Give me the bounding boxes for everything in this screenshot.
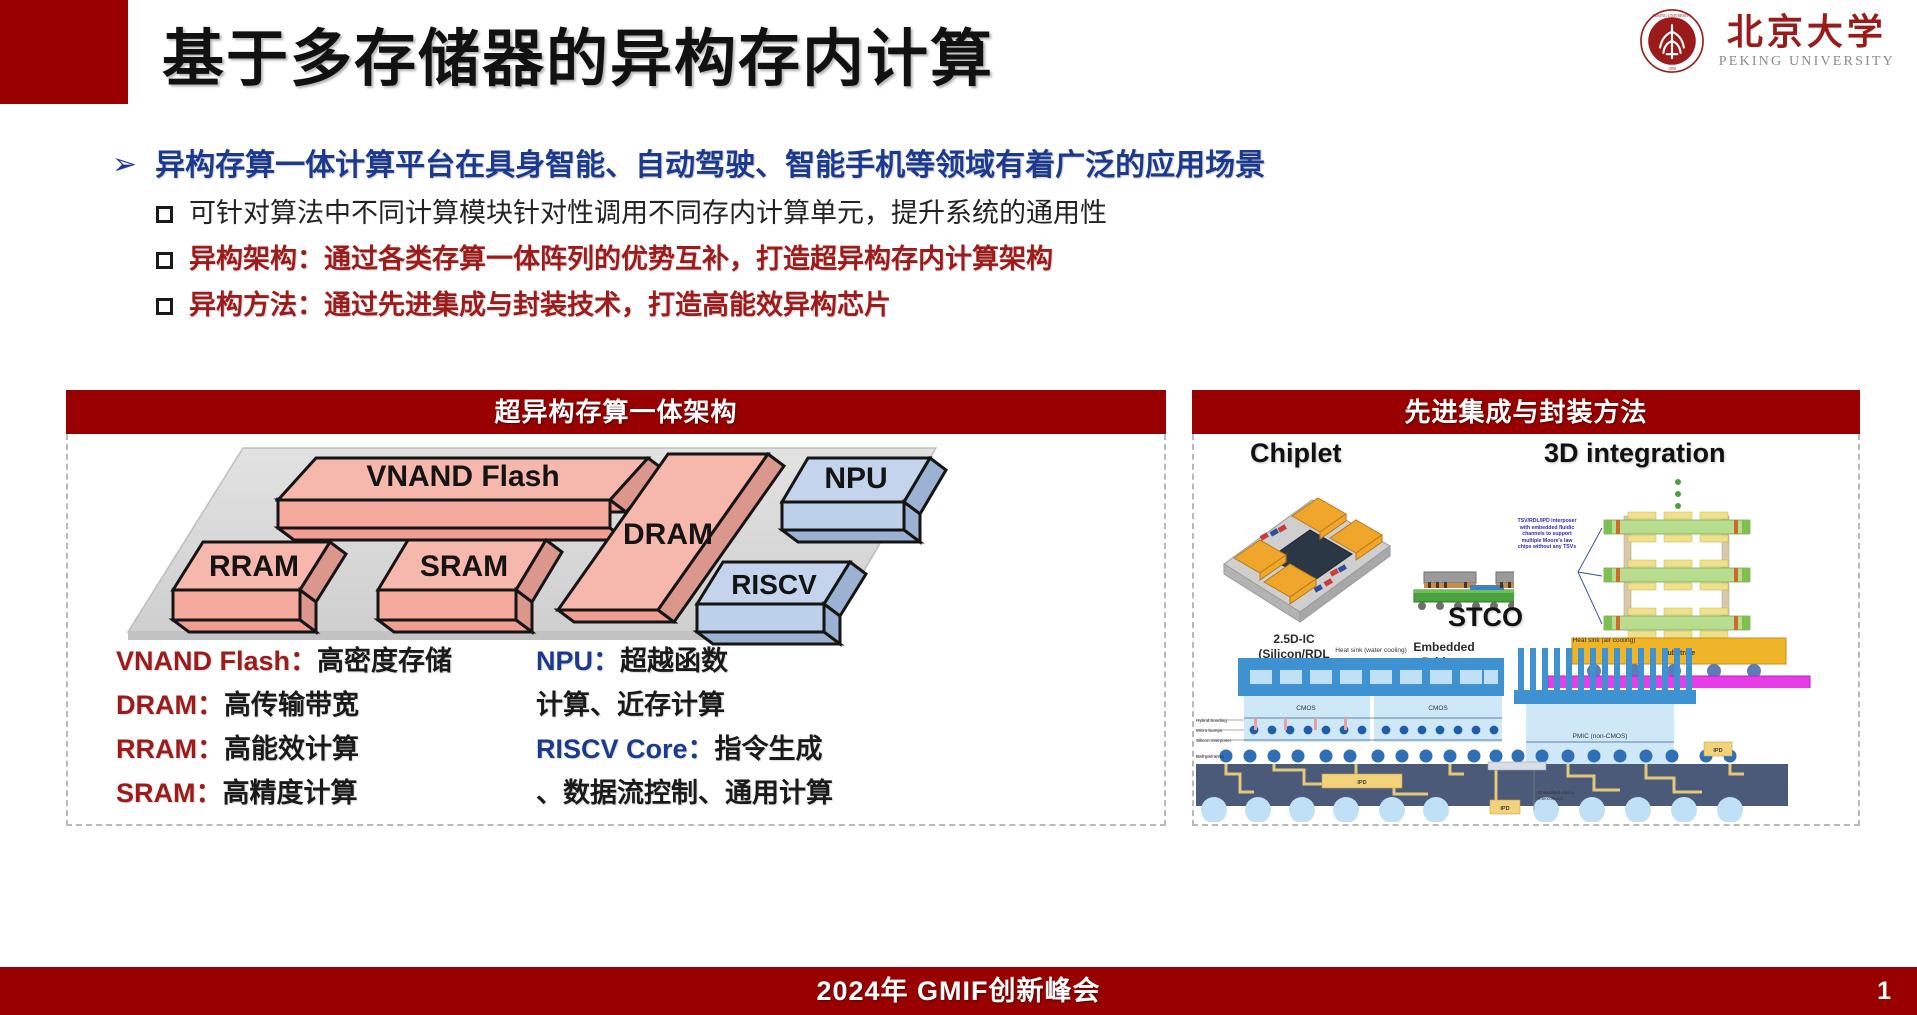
block-riscv: RISCV xyxy=(697,562,866,644)
svg-text:RRAM: RRAM xyxy=(209,550,299,583)
legend-value: 高精度计算 xyxy=(223,778,358,808)
svg-text:Heat sink (water cooling): Heat sink (water cooling) xyxy=(1335,647,1407,654)
bullet-sub-3-text: 异构方法：通过先进集成与封装技术，打造高能效异构芯片 xyxy=(189,289,891,322)
legend-sep: ： xyxy=(197,734,224,764)
bullet-sub-2-text: 异构架构：通过各类存算一体阵列的优势互补，打造超异构存内计算架构 xyxy=(189,243,1053,276)
legend-key: VNAND Flash xyxy=(116,646,290,676)
svg-text:CMOS: CMOS xyxy=(1296,705,1316,712)
legend-row: DRAM：高传输带宽 xyxy=(116,690,536,720)
stco-figure-title: STCO xyxy=(1448,602,1523,633)
legend-row: NPU：超越函数 xyxy=(536,646,996,676)
bullet-main: ➢ 异构存算一体计算平台在具身智能、自动驾驶、智能手机等领域有着广泛的应用场景 xyxy=(112,148,1832,184)
right-panel-title: 先进集成与封装方法 xyxy=(1192,390,1860,434)
right-panel: 先进集成与封装方法 Chiplet xyxy=(1192,390,1860,826)
three-d-integration-figure-title: 3D integration xyxy=(1544,438,1726,469)
bullet-sub-1-text: 可针对算法中不同计算模块针对性调用不同存内计算单元，提升系统的通用性 xyxy=(189,197,1107,230)
stco-side-label-hybrid-bonding: Hybrid bonding xyxy=(1196,718,1227,724)
stco-diagram: Heat sink (water cooling) Heat sink (air… xyxy=(1196,634,1856,822)
legend-row: RRAM：高能效计算 xyxy=(116,734,536,764)
legend-value: 高密度存储 xyxy=(317,646,452,676)
legend-row: VNAND Flash：高密度存储 xyxy=(116,646,536,676)
legend-sep: ： xyxy=(196,778,223,808)
svg-text:CMOS: CMOS xyxy=(1428,705,1448,712)
legend-key: NPU xyxy=(536,646,593,676)
svg-text:Heat sink (air cooling): Heat sink (air cooling) xyxy=(1573,637,1636,644)
footer-bar: 2024年 GMIF创新峰会 1 xyxy=(0,967,1917,1015)
legend-row: 计算、近存计算 xyxy=(536,690,996,720)
stco-side-label-silicon-interposer: Silicon interposer xyxy=(1196,738,1231,744)
square-bullet-icon xyxy=(156,206,173,223)
legend-sep: ： xyxy=(197,690,224,720)
bullet-sub-2: 异构架构：通过各类存算一体阵列的优势互补，打造超异构存内计算架构 xyxy=(156,243,1832,276)
header-accent-block xyxy=(0,0,128,104)
bullet-sub-1: 可针对算法中不同计算模块针对性调用不同存内计算单元，提升系统的通用性 xyxy=(156,197,1832,230)
svg-text:1898: 1898 xyxy=(1668,66,1676,71)
legend-value: 计算、近存计算 xyxy=(536,690,725,720)
legend-column-memory: VNAND Flash：高密度存储 DRAM：高传输带宽 RRAM：高能效计算 … xyxy=(116,646,536,808)
svg-text:PEKING UNIVERSITY: PEKING UNIVERSITY xyxy=(1652,13,1691,18)
left-panel-title: 超异构存算一体架构 xyxy=(66,390,1166,434)
three-d-integration-annotation: TSV/RDL/IPD interposer with embedded flu… xyxy=(1516,518,1578,551)
svg-text:IPD: IPD xyxy=(1500,806,1509,812)
svg-text:PMIC (non-CMOS): PMIC (non-CMOS) xyxy=(1573,733,1628,740)
legend-value: 高传输带宽 xyxy=(224,690,359,720)
stco-bottom-label-embedded-silicon-interconnect: Embedded silicon interconnect xyxy=(1538,790,1596,802)
svg-text:VNAND Flash: VNAND Flash xyxy=(366,460,559,493)
page-number: 1 xyxy=(1877,967,1891,1015)
university-logo: PEKING UNIVERSITY 1898 北京大学 PEKING UNIVE… xyxy=(1639,8,1895,74)
legend-value: 、数据流控制、通用计算 xyxy=(536,778,833,808)
slide-root: 基于多存储器的异构存内计算 PEKING UNIVERSITY 1898 北京大… xyxy=(0,0,1917,1015)
right-panel-body: Chiplet xyxy=(1192,434,1860,826)
legend-key: RISCV Core xyxy=(536,734,688,764)
stco-side-label-ball-grid-array: Ball grid array xyxy=(1196,754,1224,760)
legend-sep: ： xyxy=(290,646,317,676)
svg-text:DRAM: DRAM xyxy=(623,518,713,551)
stco-side-label-micro-bumps: Micro bumps xyxy=(1196,728,1222,734)
legend-key: SRAM xyxy=(116,778,196,808)
left-panel: 超异构存算一体架构 xyxy=(66,390,1166,826)
legend-row: 、数据流控制、通用计算 xyxy=(536,778,996,808)
bullet-sub-3: 异构方法：通过先进集成与封装技术，打造高能效异构芯片 xyxy=(156,289,1832,322)
legend-value: 超越函数 xyxy=(620,646,728,676)
left-panel-body: VNAND Flash DRAM NPU xyxy=(66,434,1166,826)
heterogeneous-architecture-diagram: VNAND Flash DRAM NPU xyxy=(68,440,1164,650)
block-npu: NPU xyxy=(782,458,946,542)
logo-chinese-name: 北京大学 xyxy=(1727,14,1887,50)
legend-sep: ： xyxy=(593,646,620,676)
logo-english-name: PEKING UNIVERSITY xyxy=(1719,55,1895,69)
legend-value: 指令生成 xyxy=(715,734,823,764)
square-bullet-icon xyxy=(156,298,173,315)
bullet-list: ➢ 异构存算一体计算平台在具身智能、自动驾驶、智能手机等领域有着广泛的应用场景 … xyxy=(112,148,1832,322)
legend-column-logic: NPU：超越函数 计算、近存计算 RISCV Core：指令生成 、数据流控制、… xyxy=(536,646,996,808)
chiplet-figure-title: Chiplet xyxy=(1250,438,1342,469)
legend-row: SRAM：高精度计算 xyxy=(116,778,536,808)
arrow-bullet-icon: ➢ xyxy=(112,148,137,182)
legend-sep: ： xyxy=(688,734,715,764)
svg-text:IPD: IPD xyxy=(1357,780,1366,786)
page-title: 基于多存储器的异构存内计算 xyxy=(162,8,994,98)
legend-row: RISCV Core：指令生成 xyxy=(536,734,996,764)
svg-text:NPU: NPU xyxy=(824,462,887,495)
svg-text:SRAM: SRAM xyxy=(420,550,508,583)
legend-value: 高能效计算 xyxy=(224,734,359,764)
square-bullet-icon xyxy=(156,252,173,269)
block-vnand-flash: VNAND Flash xyxy=(278,458,664,540)
bullet-main-text: 异构存算一体计算平台在具身智能、自动驾驶、智能手机等领域有着广泛的应用场景 xyxy=(155,148,1265,184)
svg-text:IPD: IPD xyxy=(1713,748,1722,754)
architecture-legend: VNAND Flash：高密度存储 DRAM：高传输带宽 RRAM：高能效计算 … xyxy=(68,646,1164,808)
svg-text:RISCV: RISCV xyxy=(731,569,817,600)
legend-key: DRAM xyxy=(116,690,197,720)
legend-key: RRAM xyxy=(116,734,197,764)
peking-university-seal-icon: PEKING UNIVERSITY 1898 xyxy=(1639,8,1705,74)
footer-title: 2024年 GMIF创新峰会 xyxy=(0,967,1917,1015)
